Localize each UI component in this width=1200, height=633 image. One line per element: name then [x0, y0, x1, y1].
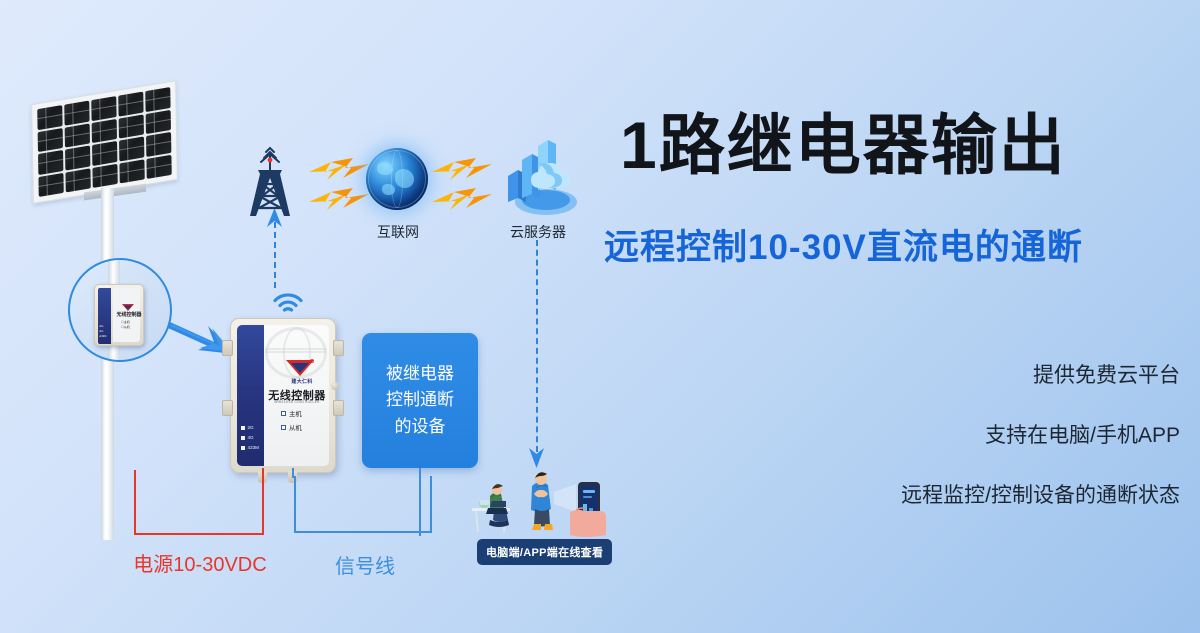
wireless-controller-device: 建大仁科 无线控制器 WIRELESS CONTROLLER 主机 从机 2G	[230, 318, 336, 473]
cell-tower-icon	[244, 140, 296, 218]
brand-logo-icon	[285, 358, 315, 377]
callout-device-face: 无线控制器 ☐主机☐从机	[113, 288, 140, 342]
device-front-face: 建大仁科 无线控制器 WIRELESS CONTROLLER 主机 从机 2G	[237, 325, 329, 466]
solar-cell-grid	[37, 87, 172, 197]
device-connector-right-top	[333, 340, 344, 356]
downlink-dashed-line	[536, 240, 538, 452]
callout-line-3: 的设备	[362, 414, 478, 440]
device-connector-right-bottom	[333, 400, 344, 416]
device-checkbox-slave: 从机	[281, 423, 302, 432]
globe-landmass	[377, 162, 393, 176]
led-row-4g: 4G	[241, 435, 259, 440]
globe-landmass	[382, 184, 394, 195]
wifi-icon	[272, 292, 304, 316]
uplink-dashed-line	[274, 222, 276, 288]
device-led-indicators: 2G 4G 433M	[241, 425, 259, 455]
feature-item-1: 提供免费云平台	[660, 365, 1180, 386]
signal-wire-path	[294, 476, 432, 533]
arrow-down-icon	[528, 446, 545, 468]
status-badge: 电脑端/APP端在线查看	[477, 539, 612, 565]
led-label-433m: 433M	[248, 445, 260, 450]
device-model-subtitle: WIRELESS CONTROLLER	[265, 400, 329, 404]
checkbox-icon	[281, 425, 286, 430]
lightning-bolt-icon	[430, 158, 496, 214]
controlled-device-callout: 被继电器 控制通断 的设备	[362, 333, 478, 468]
feature-item-3: 远程监控/控制设备的通断状态	[660, 485, 1180, 506]
lightning-bolt-icon	[307, 158, 373, 214]
device-brand-name: 建大仁科	[281, 378, 323, 385]
person-with-phone	[531, 472, 553, 530]
led-icon	[241, 446, 245, 450]
device-zoom-callout: 无线控制器 ☐主机☐从机 ▪2G▪4G▪433M	[68, 258, 172, 362]
led-icon	[241, 426, 245, 430]
callout-device-body: 无线控制器 ☐主机☐从机 ▪2G▪4G▪433M	[94, 284, 144, 346]
internet-label: 互联网	[340, 222, 456, 242]
led-row-2g: 2G	[241, 425, 259, 430]
device-connector-left-top	[222, 340, 233, 356]
checkbox-label-host: 主机	[289, 409, 302, 418]
poster-canvas: 无线控制器 ☐主机☐从机 ▪2G▪4G▪433M	[0, 0, 1200, 633]
led-label-2g: 2G	[248, 425, 254, 430]
power-wire-label: 电源10-30VDC	[110, 548, 290, 577]
power-wire-path	[134, 470, 264, 535]
callout-device-leds: ▪2G▪4G▪433M	[99, 325, 106, 340]
users-illustration	[466, 468, 626, 540]
checkbox-icon	[281, 411, 286, 416]
mounting-pole	[101, 188, 114, 540]
led-icon	[241, 436, 245, 440]
page-title: 1路继电器输出	[620, 112, 1180, 178]
device-checkbox-host: 主机	[281, 409, 302, 418]
cloud-server-label: 云服务器	[480, 222, 596, 242]
checkbox-label-slave: 从机	[289, 423, 302, 432]
globe-landmass	[395, 169, 415, 188]
cloud-server-icon	[496, 140, 580, 220]
callout-line-1: 被继电器	[362, 361, 478, 387]
led-label-4g: 4G	[248, 435, 254, 440]
device-connector-left-bottom	[222, 400, 233, 416]
globe-icon	[366, 148, 428, 210]
callout-line-2: 控制通断	[362, 387, 478, 413]
callout-device-checks: ☐主机☐从机	[121, 320, 130, 330]
feature-item-2: 支持在电脑/手机APP	[660, 425, 1180, 446]
device-mode-checkboxes: 主机 从机	[281, 409, 302, 437]
led-row-433m: 433M	[241, 445, 259, 450]
solar-panel-frame	[31, 80, 178, 204]
solar-panel-icon	[32, 92, 177, 192]
device-latch-knob	[331, 382, 339, 390]
signal-wire-label: 信号线	[300, 550, 430, 579]
feature-list: 提供免费云平台 支持在电脑/手机APP 远程监控/控制设备的通断状态	[660, 365, 1180, 545]
page-subtitle: 远程控制10-30V直流电的通断	[604, 230, 1184, 265]
callout-device-title: 无线控制器	[115, 311, 143, 318]
person-with-laptop	[472, 484, 510, 532]
